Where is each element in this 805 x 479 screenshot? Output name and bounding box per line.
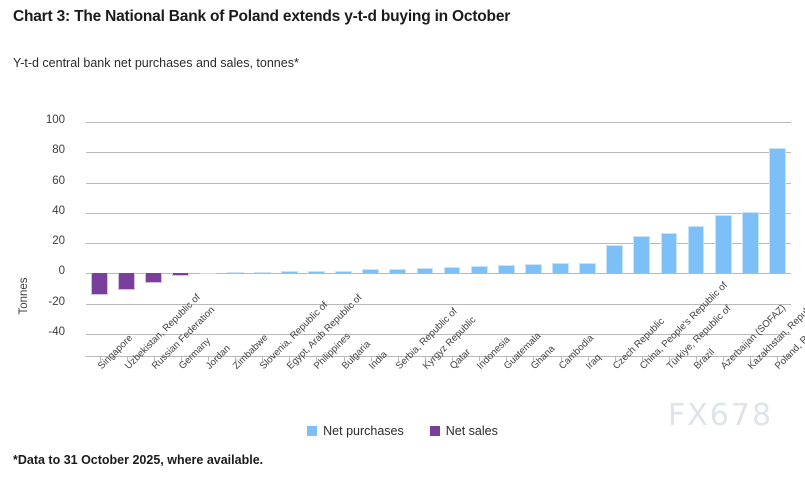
bar — [498, 265, 515, 273]
bar — [362, 269, 379, 274]
plot-frame: Tonnes 100806040200-20-40 SingaporeUzbek… — [0, 100, 805, 340]
bar — [91, 273, 108, 294]
bar — [281, 271, 298, 273]
bar — [579, 263, 596, 274]
bar — [444, 267, 461, 273]
bar — [145, 273, 162, 283]
y-axis-tick-label: 60 — [19, 175, 65, 187]
y-axis-tick-label: 100 — [19, 114, 65, 126]
bar — [335, 271, 352, 274]
bar — [200, 273, 217, 274]
bar — [688, 226, 705, 274]
bar — [254, 272, 271, 274]
bar — [308, 271, 325, 274]
y-axis-tick-label: -20 — [19, 296, 65, 308]
bar — [552, 263, 569, 273]
y-axis-tick-label: 20 — [19, 235, 65, 247]
chart-subtitle: Y-t-d central bank net purchases and sal… — [13, 56, 299, 70]
legend-label: Net purchases — [323, 424, 404, 438]
chart-page: Chart 3: The National Bank of Poland ext… — [0, 0, 805, 479]
watermark: FX678 — [668, 398, 773, 433]
legend-item[interactable]: Net purchases — [307, 424, 404, 438]
bar — [661, 233, 678, 273]
bar — [525, 264, 542, 274]
legend-item[interactable]: Net sales — [430, 424, 498, 438]
legend-swatch-icon — [307, 426, 317, 436]
bar — [606, 245, 623, 273]
footnote: *Data to 31 October 2025, where availabl… — [13, 453, 263, 467]
bar — [715, 215, 732, 273]
bar — [389, 269, 406, 274]
bar — [118, 273, 135, 290]
y-axis-tick-label: 0 — [19, 265, 65, 277]
x-axis-tick-label: India — [367, 349, 390, 372]
bar — [172, 273, 189, 276]
page-title: Chart 3: The National Bank of Poland ext… — [13, 8, 510, 26]
bar — [769, 148, 786, 274]
y-axis-tick-label: 80 — [19, 144, 65, 156]
legend-label: Net sales — [446, 424, 498, 438]
bar — [417, 268, 434, 273]
bar — [471, 266, 488, 274]
bar — [227, 272, 244, 273]
bar — [742, 212, 759, 273]
y-axis-tick-label: -40 — [19, 326, 65, 338]
bar — [633, 236, 650, 273]
x-axis-tick-label: Qatar — [448, 347, 473, 372]
x-axis-tick-label: Brazil — [692, 347, 717, 372]
legend-swatch-icon — [430, 426, 440, 436]
y-axis-tick-label: 40 — [19, 205, 65, 217]
